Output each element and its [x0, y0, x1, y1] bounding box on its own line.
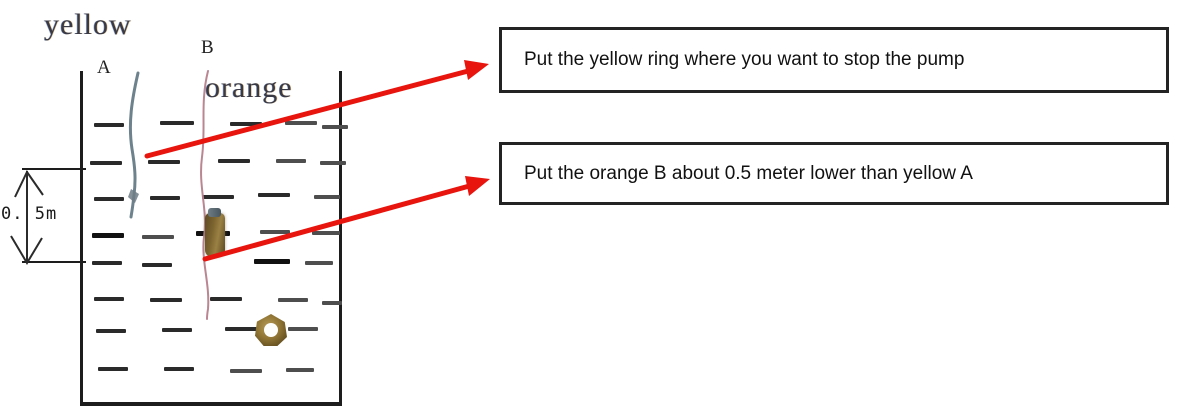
water-dash: [230, 369, 262, 373]
cable-a: [106, 71, 166, 221]
diagram-canvas: 0. 5m yellow orange A B Put the yellow r…: [0, 0, 1195, 411]
water-dash: [142, 235, 174, 239]
callout-text: Put the orange B about 0.5 meter lower t…: [502, 163, 973, 185]
orange-ring-float-b[interactable]: [255, 314, 287, 346]
water-dash: [94, 297, 124, 301]
callout-text: Put the yellow ring where you want to st…: [502, 49, 964, 71]
point-label-b: B: [201, 37, 214, 59]
water-dash: [258, 193, 290, 197]
water-dash: [305, 261, 333, 265]
water-dash: [162, 328, 192, 332]
tank-cross-section: [80, 71, 342, 407]
water-dash: [312, 231, 340, 235]
water-dash: [276, 159, 306, 163]
callout-box-yellow-ring: Put the yellow ring where you want to st…: [499, 27, 1169, 93]
water-dash: [320, 161, 346, 165]
water-dash: [225, 327, 257, 331]
water-dash: [288, 327, 318, 331]
yellow-ring-float-a[interactable]: [205, 213, 225, 257]
water-dash: [164, 367, 194, 371]
water-dash: [322, 301, 342, 305]
water-dash: [260, 230, 290, 234]
dimension-arrowhead-down: [8, 234, 50, 265]
point-label-a: A: [97, 57, 111, 79]
water-dash: [150, 298, 182, 302]
water-dash: [98, 367, 128, 371]
water-dash: [96, 329, 126, 333]
cable-b: [180, 69, 240, 321]
tank-floor: [80, 402, 342, 406]
water-dash: [314, 195, 340, 199]
legend-word-yellow: yellow: [44, 8, 132, 42]
water-dash: [286, 368, 314, 372]
water-dash: [254, 259, 290, 264]
water-dash: [142, 263, 172, 267]
float-a-cap: [208, 208, 221, 217]
callout-box-orange-ring: Put the orange B about 0.5 meter lower t…: [499, 142, 1169, 205]
water-dash: [285, 121, 317, 125]
dimension-label: 0. 5m: [1, 204, 57, 224]
legend-word-orange: orange: [205, 71, 293, 105]
dimension-arrowhead-up: [12, 169, 46, 199]
tank-right-wall: [339, 71, 342, 405]
water-dash: [322, 125, 348, 129]
float-b-hole: [264, 323, 278, 337]
water-dash: [278, 298, 308, 302]
dimension-0-5m: 0. 5m: [0, 160, 100, 275]
